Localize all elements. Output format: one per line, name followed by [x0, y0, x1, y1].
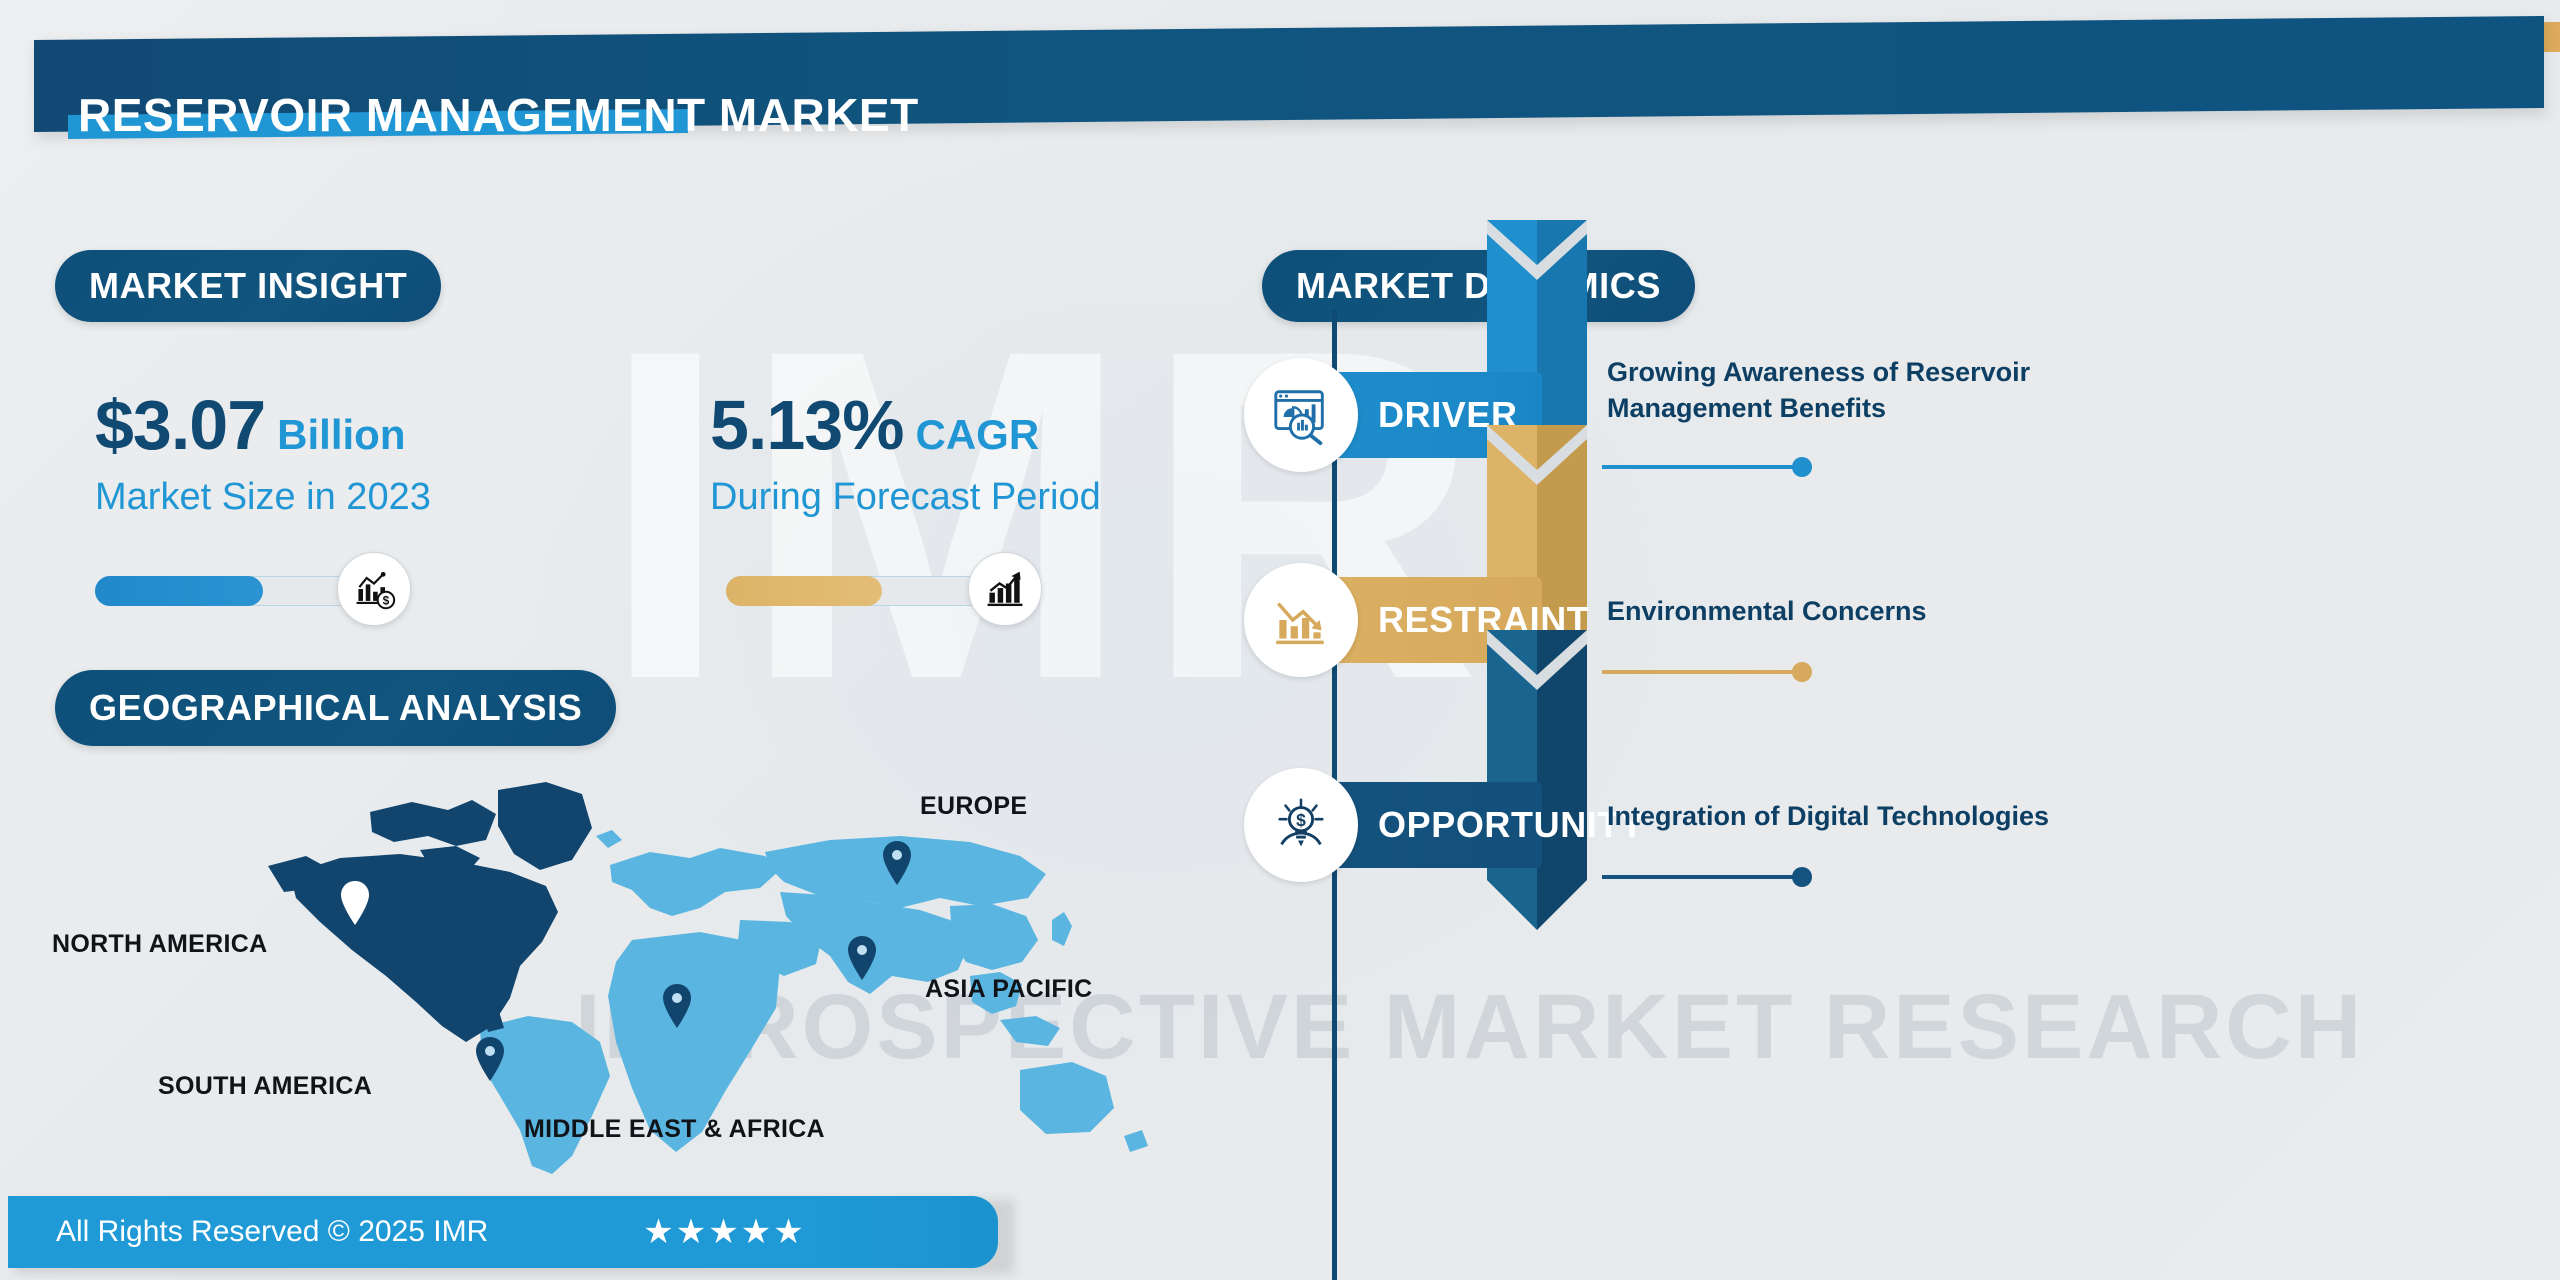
- region-label-north-america: NORTH AMERICA: [52, 930, 267, 959]
- lightbulb-dollar-icon: $: [1244, 768, 1358, 882]
- market-size-caption: Market Size in 2023: [95, 476, 431, 519]
- opportunity-ribbon-arrow: [1487, 630, 1587, 930]
- market-dynamics-timeline: DRIVER Growing Awareness of Reservoir Ma…: [1262, 310, 2560, 1280]
- driver-description: Growing Awareness of Reservoir Managemen…: [1607, 354, 2137, 427]
- progress-fill: [726, 576, 882, 606]
- market-size-progress: $: [95, 570, 395, 612]
- progress-fill: [95, 576, 263, 606]
- report-magnifier-icon: [1244, 358, 1358, 472]
- map-pin-middle-east-africa: [660, 983, 694, 1029]
- svg-text:$: $: [1296, 810, 1306, 830]
- map-pin-europe: [880, 840, 914, 886]
- growth-chart-arrow-icon: [968, 552, 1042, 626]
- map-pin-north-america: [338, 880, 372, 926]
- cagr-unit: CAGR: [915, 411, 1039, 458]
- region-label-asia-pacific: ASIA PACIFIC: [925, 975, 1093, 1004]
- stat-cagr: 5.13%CAGR During Forecast Period: [710, 390, 1101, 519]
- opportunity-leader-dot: [1792, 867, 1812, 887]
- footer-bar: All Rights Reserved © 2025 IMR ★★★★★: [8, 1196, 998, 1268]
- geographical-analysis-pill: GEOGRAPHICAL ANALYSIS: [55, 670, 616, 746]
- opportunity-tag: $ OPPORTUNITY: [1270, 782, 1542, 868]
- cagr-progress: [726, 570, 1026, 612]
- driver-leader-line: [1602, 465, 1802, 469]
- market-size-unit: Billion: [277, 411, 405, 458]
- page-title: RESERVOIR MANAGEMENT MARKET: [78, 88, 919, 142]
- opportunity-tag-label: OPPORTUNITY: [1378, 804, 1645, 846]
- bar-chart-dollar-icon: $: [337, 552, 411, 626]
- region-label-south-america: SOUTH AMERICA: [158, 1072, 372, 1101]
- restraint-leader-line: [1602, 670, 1802, 674]
- rating-stars: ★★★★★: [643, 1212, 805, 1252]
- driver-leader-dot: [1792, 457, 1812, 477]
- market-insight-pill: MARKET INSIGHT: [55, 250, 441, 322]
- map-pin-south-america: [473, 1036, 507, 1082]
- restraint-description: Environmental Concerns: [1607, 593, 2137, 629]
- cagr-value: 5.13%: [710, 386, 903, 464]
- restraint-leader-dot: [1792, 662, 1812, 682]
- dynamics-row-opportunity: $ OPPORTUNITY: [1262, 720, 2560, 1020]
- declining-bar-chart-icon: [1244, 563, 1358, 677]
- infographic-canvas: IMR INTROSPECTIVE MARKET RESEARCH RESERV…: [0, 0, 2560, 1280]
- stat-market-size: $3.07Billion Market Size in 2023: [95, 390, 431, 519]
- opportunity-leader-line: [1602, 875, 1802, 879]
- opportunity-description: Integration of Digital Technologies: [1607, 798, 2137, 834]
- market-size-value: $3.07: [95, 386, 265, 464]
- map-pin-asia-pacific: [845, 935, 879, 981]
- region-label-europe: EUROPE: [920, 792, 1027, 821]
- svg-text:$: $: [383, 594, 390, 608]
- region-label-middle-east-africa: MIDDLE EAST & AFRICA: [524, 1115, 825, 1144]
- map-highlight-north-america: [268, 782, 592, 1042]
- cagr-caption: During Forecast Period: [710, 476, 1101, 519]
- copyright-text: All Rights Reserved © 2025 IMR: [56, 1215, 488, 1249]
